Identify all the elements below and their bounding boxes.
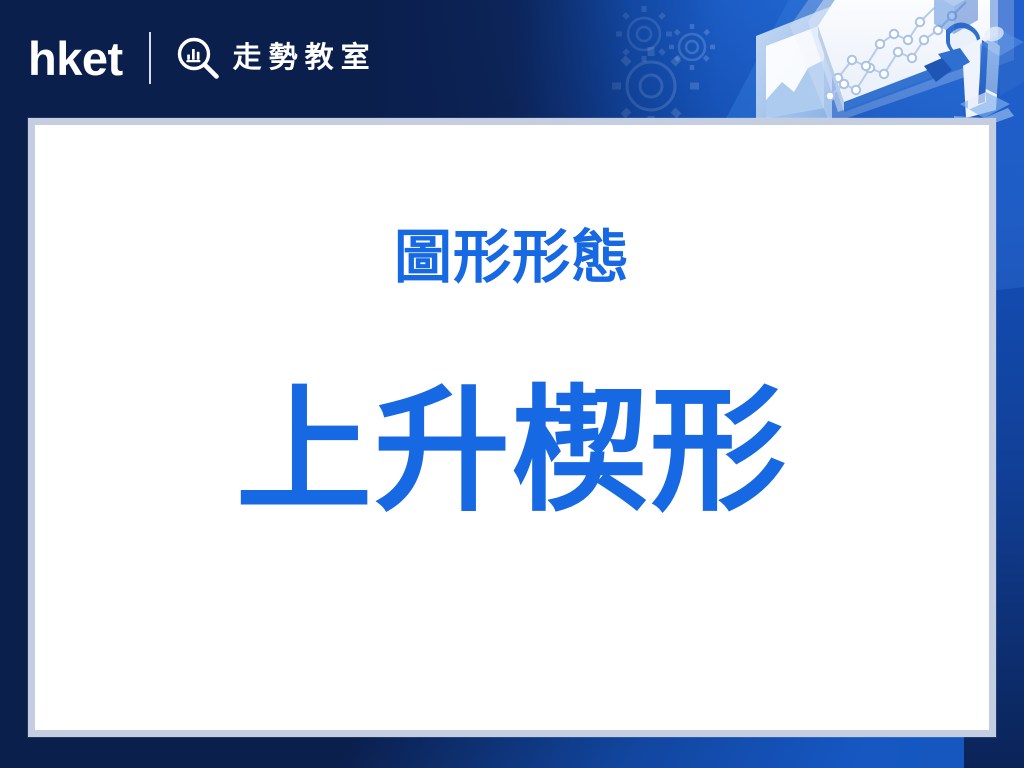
magnifier-chart-icon [175, 35, 221, 81]
content-card-inner: 圖形形態 上升楔形 [35, 125, 989, 730]
logo-divider [149, 32, 151, 84]
brand-logo-bar[interactable]: hket 走勢教室 [28, 26, 377, 90]
subbrand-label: 走勢教室 [233, 44, 377, 73]
content-card: 圖形形態 上升楔形 [28, 118, 996, 737]
hket-wordmark: hket [28, 35, 123, 82]
page-title: 上升楔形 [35, 383, 989, 519]
eyebrow-title: 圖形形態 [35, 229, 989, 287]
slide-root: hket 走勢教室 圖形形態 上升楔形 [0, 0, 1024, 768]
